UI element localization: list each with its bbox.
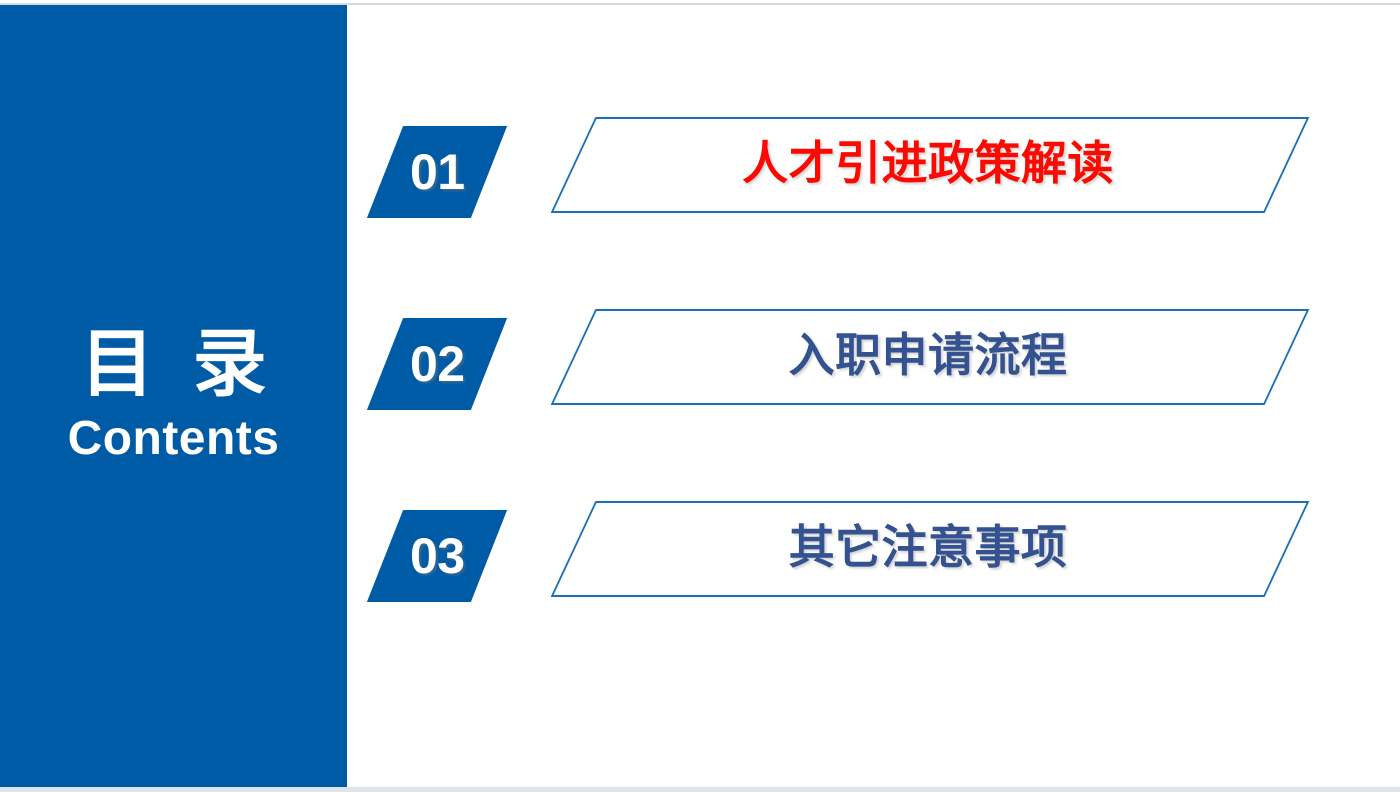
toc-number-badge-03[interactable]: 03 [367, 510, 507, 602]
toc-number-badge-02[interactable]: 02 [367, 318, 507, 410]
toc-number-label-03: 03 [410, 531, 465, 581]
toc-number-badge-01[interactable]: 01 [367, 126, 507, 218]
sidebar-title-chinese: 目 录 [71, 326, 275, 403]
toc-list: 01 人才引进政策解读 02 入职申请流程 03 其它注意事项 [347, 5, 1400, 787]
toc-number-label-02: 02 [410, 339, 465, 389]
bottom-edge-rule [0, 787, 1400, 792]
sidebar-title-english: Contents [68, 413, 280, 466]
toc-title-plate-02[interactable] [551, 309, 1310, 405]
toc-item-02[interactable]: 02 入职申请流程 [347, 304, 1400, 396]
toc-title-plate-01[interactable] [551, 117, 1310, 213]
toc-item-03[interactable]: 03 其它注意事项 [347, 496, 1400, 588]
contents-sidebar: 目 录 Contents [0, 5, 347, 787]
toc-item-01[interactable]: 01 人才引进政策解读 [347, 112, 1400, 204]
toc-title-plate-03[interactable] [551, 501, 1310, 597]
toc-number-label-01: 01 [410, 147, 465, 197]
slide-canvas: 目 录 Contents 01 人才引进政策解读 02 入职申请流程 [0, 0, 1400, 792]
